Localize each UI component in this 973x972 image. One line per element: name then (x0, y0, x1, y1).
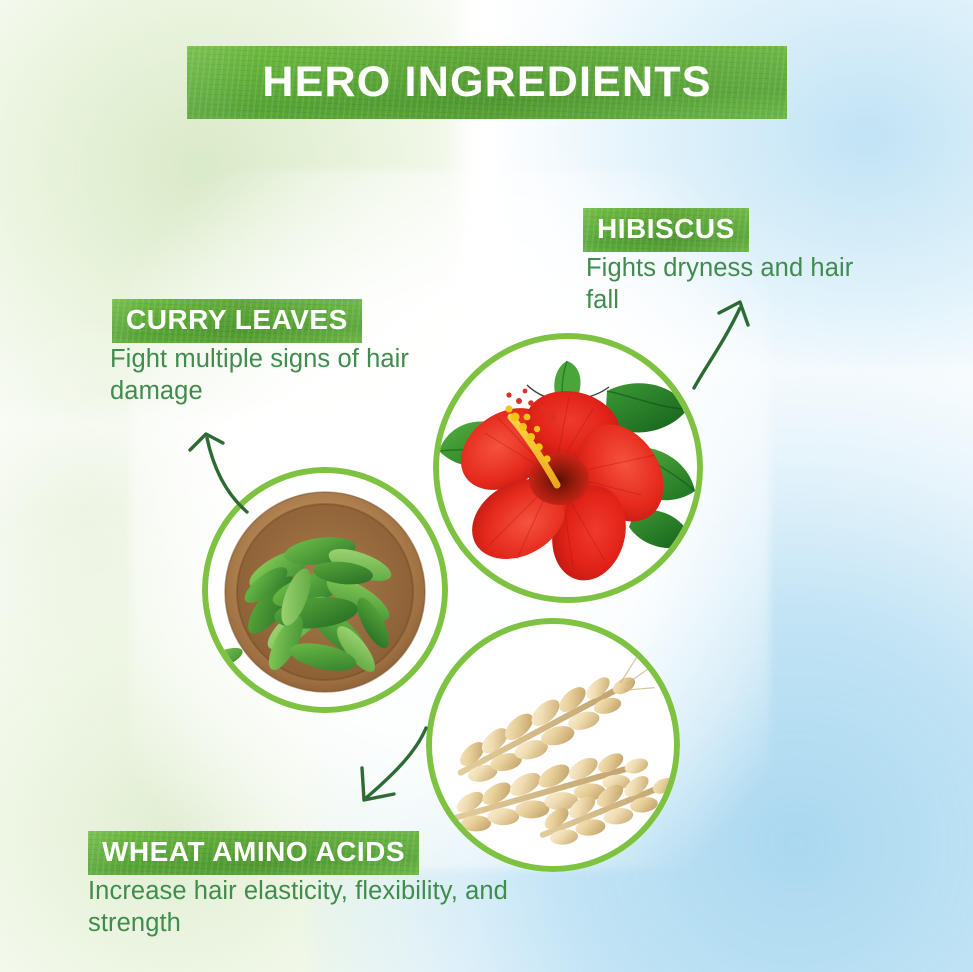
hibiscus-flower-photo (439, 339, 697, 597)
arrow-hibiscus-icon (690, 288, 760, 393)
ingredient-label-wheat-amino-acids: WHEAT AMINO ACIDS (88, 831, 419, 875)
ingredient-image-wheat-amino-acids (426, 618, 680, 872)
ingredient-label-hibiscus: HIBISCUS (583, 208, 749, 252)
hero-ingredients-infographic: HERO INGREDIENTS CURRY LEAVES Fight mult… (0, 0, 973, 972)
ingredient-image-hibiscus (433, 333, 703, 603)
wheat-illustration (432, 624, 674, 866)
arrow-curry-leaves-icon (185, 412, 255, 517)
arrow-wheat-icon (350, 724, 436, 816)
ingredient-description-curry-leaves: Fight multiple signs of hair damage (110, 344, 440, 407)
wheat-stalks-photo (432, 624, 674, 866)
page-title: HERO INGREDIENTS (187, 46, 787, 119)
ingredient-label-curry-leaves: CURRY LEAVES (112, 299, 362, 343)
hibiscus-illustration (439, 339, 697, 597)
ingredient-description-wheat-amino-acids: Increase hair elasticity, flexibility, a… (88, 876, 608, 939)
